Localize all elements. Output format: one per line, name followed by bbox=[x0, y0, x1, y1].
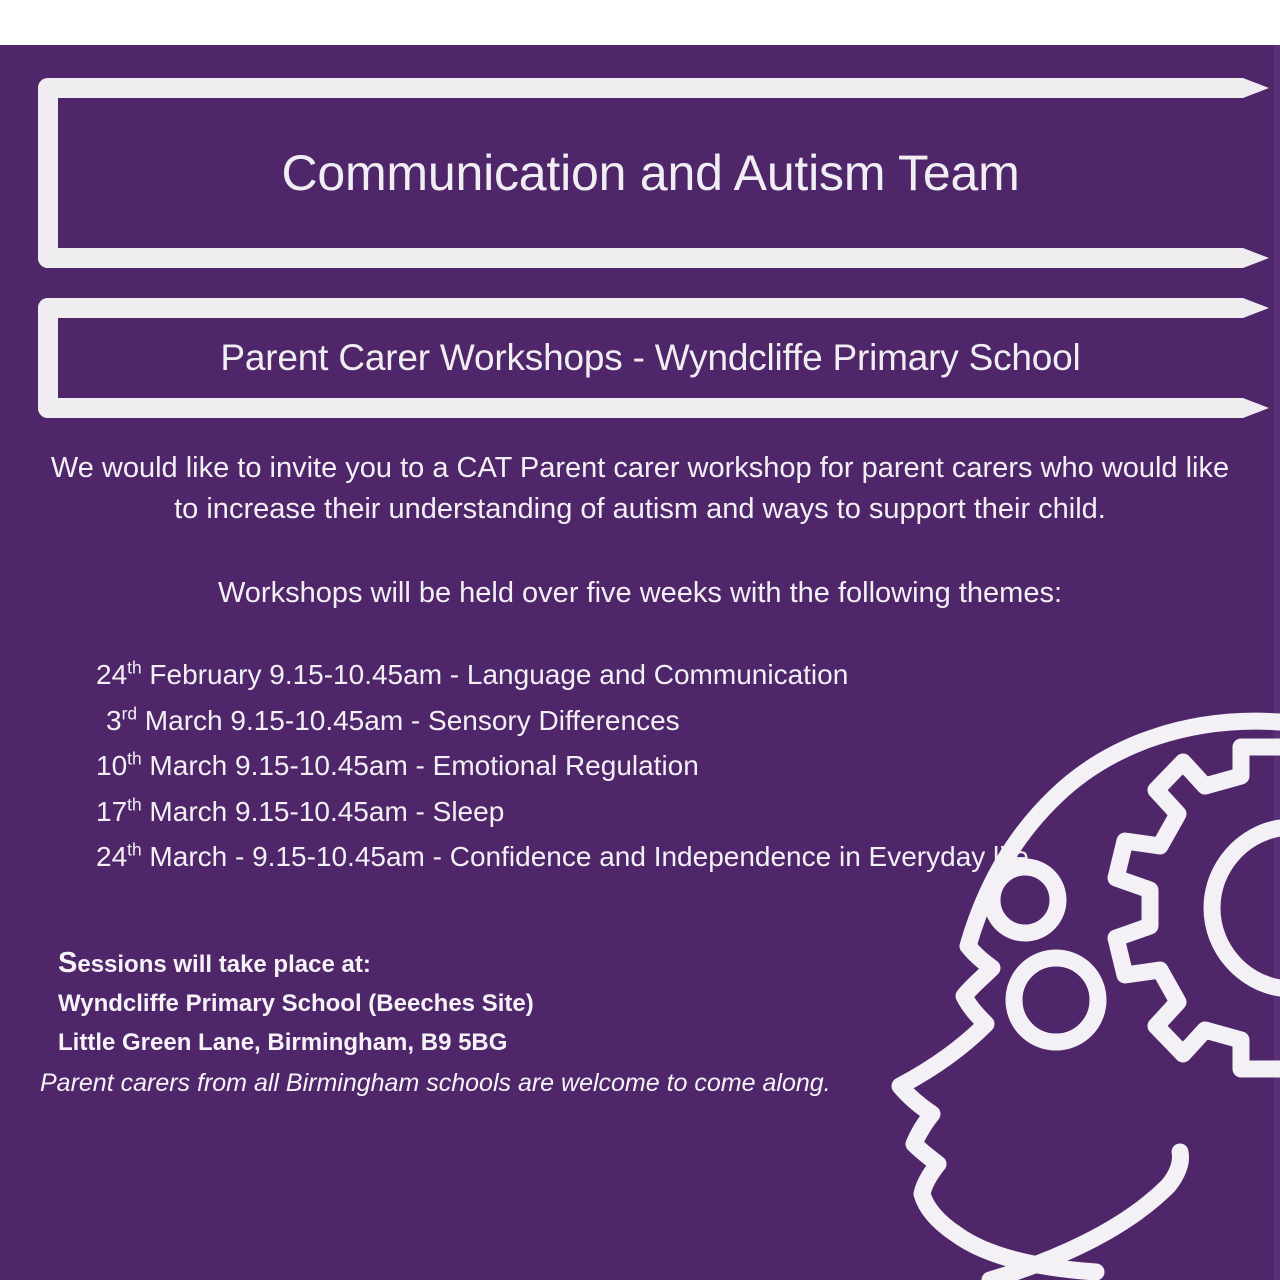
schedule-row: 24th March - 9.15-10.45am - Confidence a… bbox=[96, 834, 1196, 880]
sessions-lead-rest: essions will take place at: bbox=[77, 951, 370, 978]
subtitle-banner-top-rail bbox=[38, 298, 1243, 318]
schedule-day-ordinal: th bbox=[127, 794, 141, 814]
schedule-day-ordinal: th bbox=[127, 749, 141, 769]
schedule-day: 17 bbox=[96, 796, 127, 827]
schedule-day: 24 bbox=[96, 659, 127, 690]
subtitle-banner: Parent Carer Workshops - Wyndcliffe Prim… bbox=[38, 298, 1243, 418]
title-banner-left-spine bbox=[38, 78, 58, 268]
poster-subtitle: Parent Carer Workshops - Wyndcliffe Prim… bbox=[58, 318, 1243, 398]
venue-name: Wyndcliffe Primary School (Beeches Site) bbox=[40, 984, 940, 1023]
schedule-day-ordinal: th bbox=[127, 658, 141, 678]
schedule-day: 3 bbox=[106, 705, 122, 736]
schedule-day: 24 bbox=[96, 841, 127, 872]
schedule-row: 24th February 9.15-10.45am - Language an… bbox=[96, 652, 1196, 698]
sessions-lead-capital: S bbox=[58, 947, 77, 979]
welcome-note: Parent carers from all Birmingham school… bbox=[40, 1065, 940, 1101]
title-banner: Communication and Autism Team bbox=[38, 78, 1243, 268]
schedule-detail: February 9.15-10.45am - Language and Com… bbox=[142, 659, 849, 690]
schedule-day-ordinal: th bbox=[127, 840, 141, 860]
themes-lead-text: Workshops will be held over five weeks w… bbox=[40, 573, 1240, 613]
schedule-detail: March 9.15-10.45am - Emotional Regulatio… bbox=[142, 750, 699, 781]
schedule-row: 3rd March 9.15-10.45am - Sensory Differe… bbox=[96, 698, 1196, 744]
intro-paragraph: We would like to invite you to a CAT Par… bbox=[40, 448, 1240, 530]
poster-title: Communication and Autism Team bbox=[58, 98, 1243, 248]
schedule-detail: March - 9.15-10.45am - Confidence and In… bbox=[142, 841, 1029, 872]
venue-address: Little Green Lane, Birmingham, B9 5BG bbox=[40, 1023, 940, 1062]
location-block: Sessions will take place at: Wyndcliffe … bbox=[40, 944, 940, 1101]
schedule-detail: March 9.15-10.45am - Sensory Differences bbox=[137, 705, 680, 736]
schedule-day: 10 bbox=[96, 750, 127, 781]
title-banner-bottom-rail bbox=[38, 248, 1243, 268]
right-edge-sliver bbox=[1274, 45, 1280, 1280]
schedule-day-ordinal: rd bbox=[122, 703, 137, 723]
schedule-row: 10th March 9.15-10.45am - Emotional Regu… bbox=[96, 743, 1196, 789]
schedule-row: 17th March 9.15-10.45am - Sleep bbox=[96, 789, 1196, 835]
sessions-lead-line: Sessions will take place at: bbox=[40, 944, 940, 984]
subtitle-banner-bottom-rail bbox=[38, 398, 1243, 418]
poster-canvas: Communication and Autism Team Parent Car… bbox=[0, 0, 1280, 1280]
title-banner-top-rail bbox=[38, 78, 1243, 98]
workshop-schedule-list: 24th February 9.15-10.45am - Language an… bbox=[96, 652, 1196, 880]
schedule-detail: March 9.15-10.45am - Sleep bbox=[142, 796, 505, 827]
